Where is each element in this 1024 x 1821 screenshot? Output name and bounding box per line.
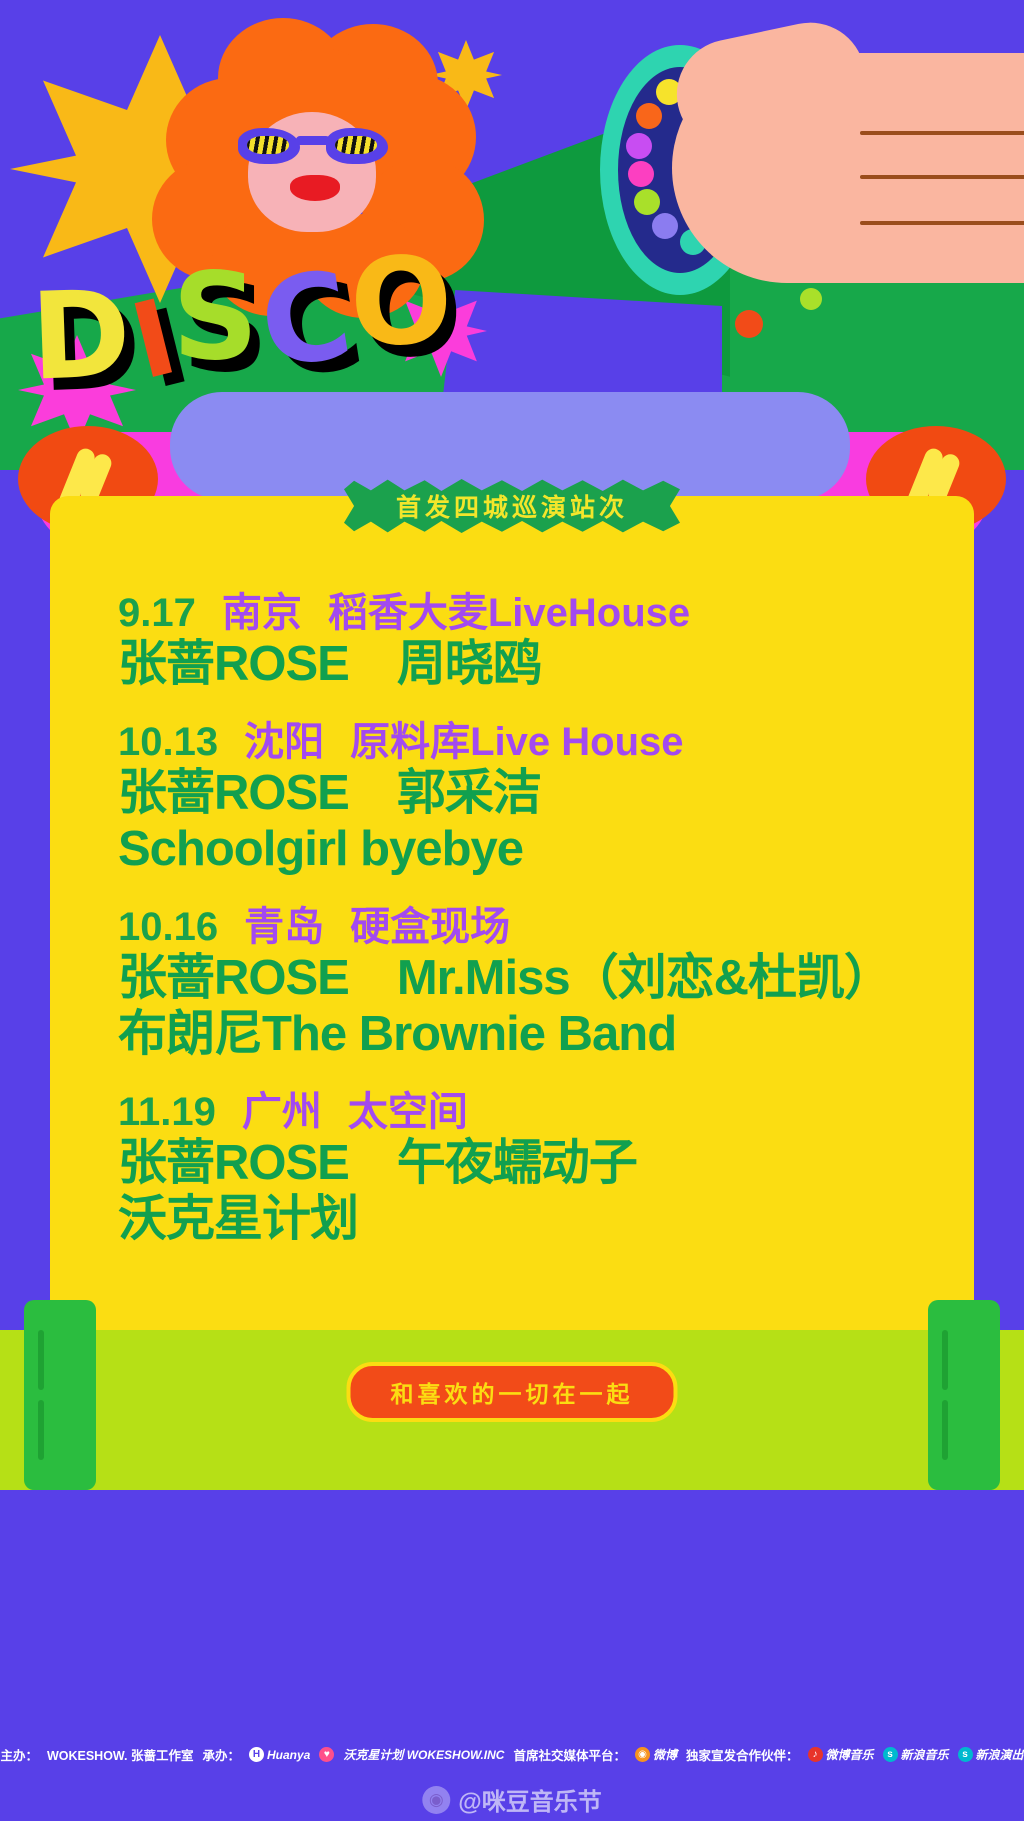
lineup-city: 沈阳 — [244, 719, 324, 766]
lineup-block: 10.16 青岛 硬盒现场 张蔷ROSE Mr.Miss（刘恋&杜凯） 布朗尼T… — [118, 904, 906, 1063]
lineup-date: 11.19 — [118, 1089, 216, 1136]
lineup-block: 9.17 南京 稻香大麦LiveHouse 张蔷ROSE 周晓鸥 — [118, 590, 906, 693]
watermark: ◉ @咪豆音乐节 — [422, 1782, 601, 1817]
lineup-block: 10.13 沈阳 原料库Live House 张蔷ROSE 郭采洁 School… — [118, 719, 906, 878]
lineup-date-row: 11.19 广州 太空间 — [118, 1089, 906, 1136]
sunglasses-icon — [238, 122, 388, 170]
tour-badge-label: 首发四城巡演站次 — [344, 476, 680, 536]
sina-show-label: 新浪演出 — [976, 1746, 1024, 1763]
disco-letter-o: O — [349, 232, 455, 373]
disco-letter-s: S — [172, 249, 260, 388]
lineup-acts: 布朗尼The Brownie Band — [118, 1007, 906, 1063]
host-logo-huanya-label: Huanya — [267, 1748, 310, 1762]
lips-shape — [290, 175, 340, 201]
host-logo-trend: ♥ — [319, 1747, 334, 1762]
hand-illustration — [600, 25, 1024, 315]
orange-dot-icon — [735, 310, 763, 338]
lineup-venue: 原料库Live House — [350, 719, 683, 766]
sina-music-logo: s新浪音乐 — [883, 1746, 949, 1763]
lineup-venue: 太空间 — [348, 1089, 468, 1136]
weibo-music-logo: ♪微博音乐 — [808, 1746, 874, 1763]
tagline-badge: 和喜欢的一切在一起 — [347, 1362, 678, 1422]
disco-letter-d: D — [28, 265, 134, 407]
lineup-acts: 沃克星计划 — [118, 1192, 906, 1248]
tour-badge: 首发四城巡演站次 — [344, 476, 680, 536]
lineup-list: 9.17 南京 稻香大麦LiveHouse 张蔷ROSE 周晓鸥 10.13 沈… — [50, 590, 974, 1274]
host-label: 承办： — [202, 1745, 240, 1764]
lineup-date-row: 10.16 青岛 硬盒现场 — [118, 904, 906, 951]
weibo-icon: ◉ — [422, 1786, 450, 1814]
sina-show-logo: s新浪演出 — [958, 1746, 1024, 1763]
watermark-handle: @咪豆音乐节 — [458, 1782, 601, 1817]
green-dot-icon — [800, 288, 822, 310]
weibo-label: 微博 — [653, 1746, 677, 1763]
lineup-city: 广州 — [242, 1089, 322, 1136]
lineup-acts: 张蔷ROSE 午夜蠕动子 — [118, 1136, 906, 1192]
lineup-acts: Schoolgirl byebye — [118, 822, 906, 878]
lineup-date-row: 10.13 沈阳 原料库Live House — [118, 719, 906, 766]
organizer-label: 主办： — [0, 1745, 38, 1764]
lineup-block: 11.19 广州 太空间 张蔷ROSE 午夜蠕动子 沃克星计划 — [118, 1089, 906, 1248]
organizer-names: WOKESHOW. 张蔷工作室 — [47, 1745, 194, 1764]
promo-label: 独家宣发合作伙伴： — [686, 1745, 799, 1764]
stage-leg-right — [928, 1300, 1000, 1490]
weibo-music-label: 微博音乐 — [826, 1746, 874, 1763]
footer-credits: 主办： WOKESHOW. 张蔷工作室 承办： HHuanya ♥ 沃克星计划 … — [0, 1745, 1024, 1764]
media-label: 首席社交媒体平台： — [513, 1745, 626, 1764]
sina-music-label: 新浪音乐 — [901, 1746, 949, 1763]
weibo-logo: ◉微博 — [635, 1746, 677, 1763]
host-logo-wokeshow: 沃克星计划 WOKESHOW.INC — [343, 1746, 504, 1763]
host-logo-huanya: HHuanya — [249, 1747, 310, 1762]
poster-root: DISCO 首发四城巡演站次 9.17 南京 稻香大麦LiveHouse 张蔷R… — [0, 0, 1024, 1821]
lineup-acts: 张蔷ROSE Mr.Miss（刘恋&杜凯） — [118, 951, 906, 1007]
stage-leg-left — [24, 1300, 96, 1490]
lineup-date: 9.17 — [118, 590, 196, 637]
lineup-date-row: 9.17 南京 稻香大麦LiveHouse — [118, 590, 906, 637]
lineup-acts: 张蔷ROSE 周晓鸥 — [118, 637, 906, 693]
disco-letter-c: C — [251, 245, 362, 396]
lineup-venue: 稻香大麦LiveHouse — [328, 590, 690, 637]
host-logo-wokeshow-label: 沃克星计划 WOKESHOW.INC — [343, 1746, 504, 1763]
lineup-city: 青岛 — [244, 904, 324, 951]
lineup-date: 10.16 — [118, 904, 218, 951]
lineup-venue: 硬盒现场 — [350, 904, 510, 951]
lineup-acts: 张蔷ROSE 郭采洁 — [118, 766, 906, 822]
lineup-city: 南京 — [222, 590, 302, 637]
lineup-date: 10.13 — [118, 719, 218, 766]
